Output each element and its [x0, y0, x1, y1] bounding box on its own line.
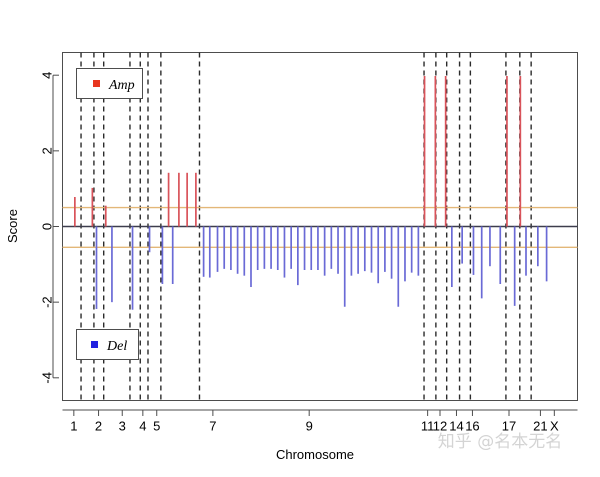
gistic-score-plot: 420-2-4 Score 1234579111214161721X Chrom… — [0, 0, 600, 477]
y-tick-label: 0 — [40, 223, 55, 230]
chart-root: 420-2-4 Score 1234579111214161721X Chrom… — [0, 0, 600, 477]
x-axis-title: Chromosome — [276, 447, 354, 462]
y-tick-label: -4 — [40, 372, 55, 384]
x-tick-label: 1 — [70, 419, 77, 434]
legend-del[interactable]: Del — [77, 330, 139, 360]
x-tick-label: 2 — [95, 419, 102, 434]
watermark: 知乎 @名本无名 — [438, 432, 562, 452]
legend-amp[interactable]: Amp — [77, 69, 143, 99]
y-axis-title: Score — [5, 209, 20, 243]
del-swatch-icon — [91, 341, 98, 348]
legend-del-label: Del — [106, 339, 127, 354]
x-tick-label: 7 — [209, 419, 216, 434]
x-tick-label: 9 — [306, 419, 313, 434]
y-tick-label: -2 — [40, 296, 55, 308]
legend-amp-label: Amp — [108, 78, 135, 93]
x-tick-label: 3 — [119, 419, 126, 434]
y-tick-label: 4 — [40, 72, 55, 79]
x-tick-label: 5 — [153, 419, 160, 434]
x-tick-label: 4 — [139, 419, 146, 434]
y-tick-label: 2 — [40, 147, 55, 154]
amp-swatch-icon — [93, 80, 100, 87]
